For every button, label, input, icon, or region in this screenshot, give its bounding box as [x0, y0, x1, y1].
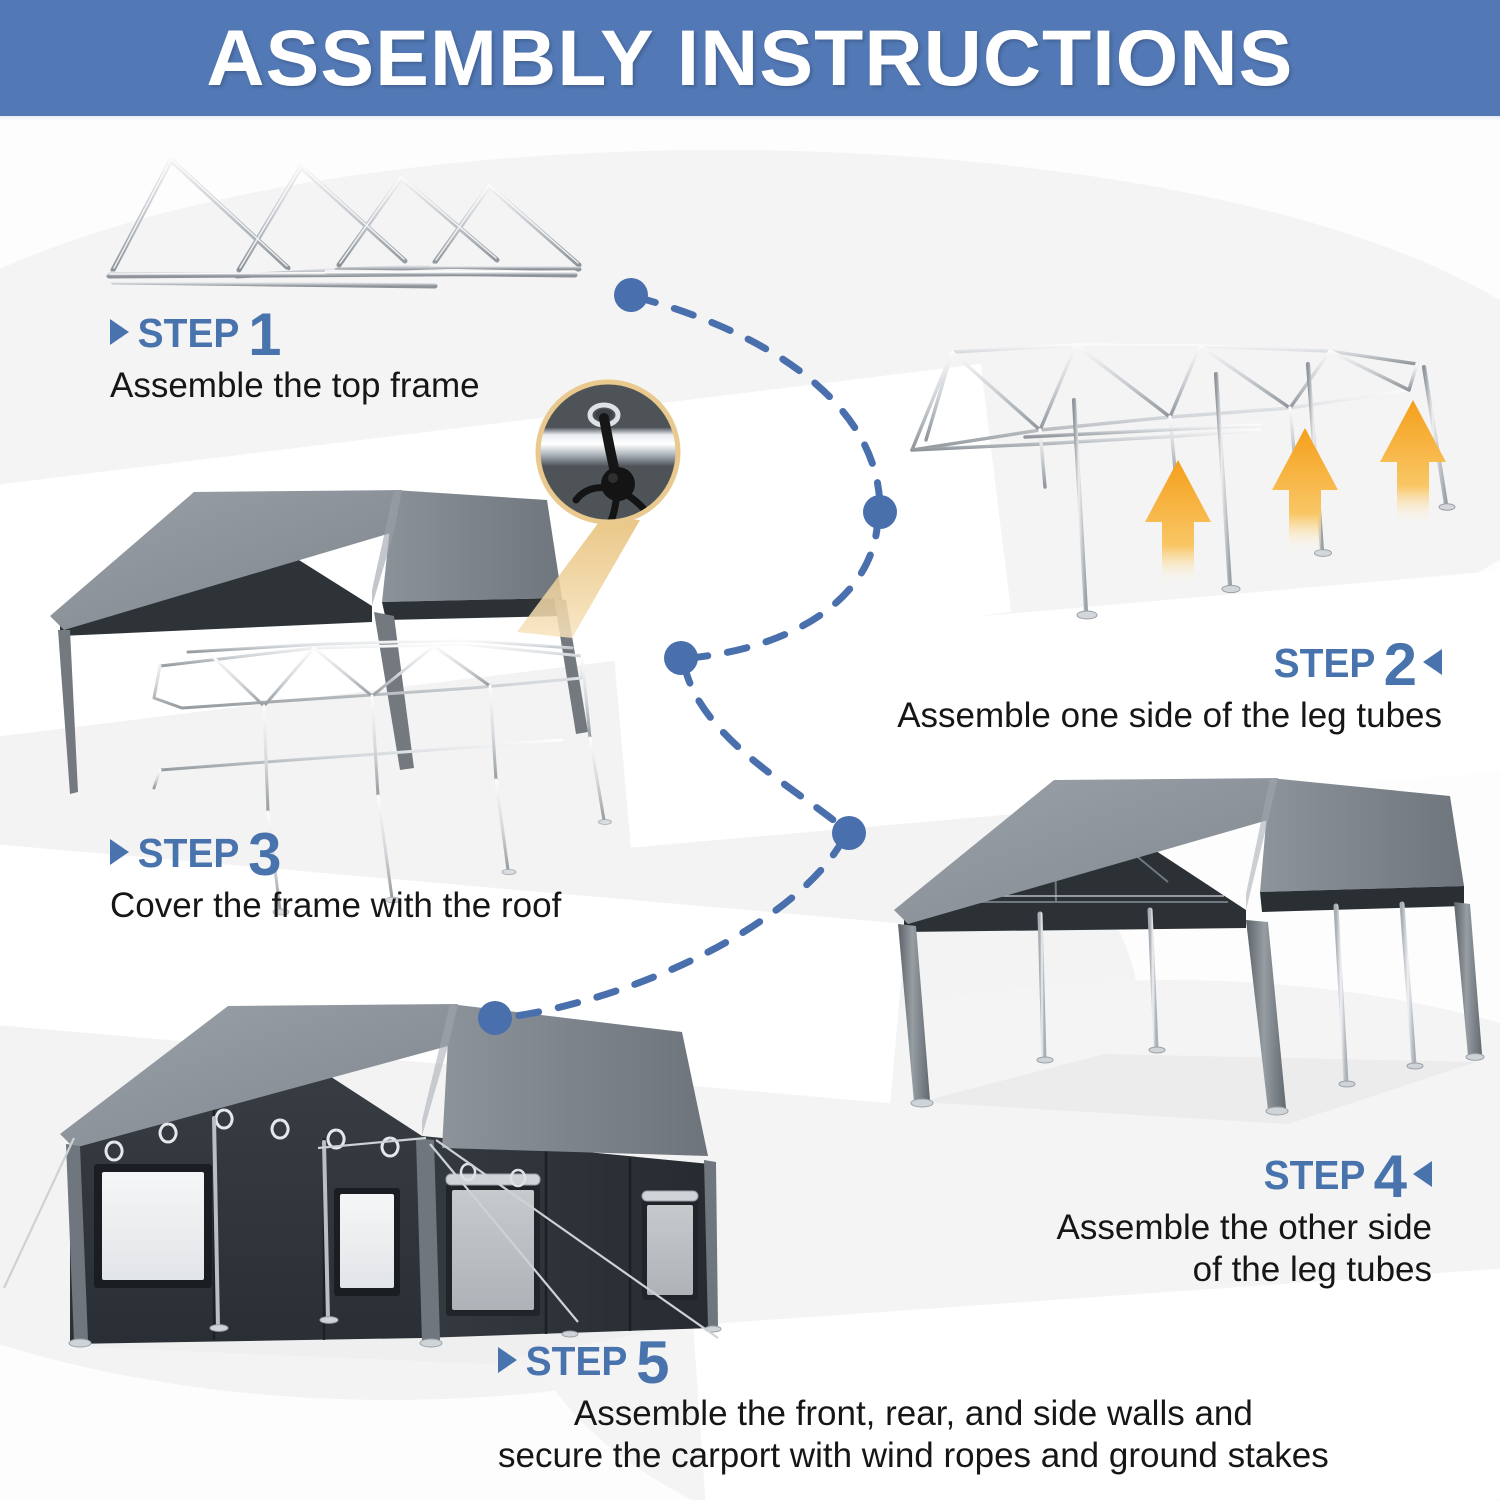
step-2-heading: STEP 2 — [897, 636, 1442, 684]
step-5-heading: STEP 5 — [498, 1334, 1329, 1382]
step-2-illustration — [890, 312, 1490, 662]
step-5-illustration — [18, 988, 758, 1378]
step-3-block: STEP 3 Cover the frame with the roof — [110, 826, 561, 926]
step-4-description-line-2: of the leg tubes — [1057, 1249, 1432, 1290]
step-4-number: 4 — [1374, 1153, 1407, 1201]
step-1-number: 1 — [248, 311, 281, 359]
step-3-number: 3 — [248, 831, 281, 879]
zoom-callout-bungee-fastener — [512, 368, 722, 638]
header-underline — [0, 116, 1500, 122]
step-5-block: STEP 5 Assemble the front, rear, and sid… — [498, 1334, 1329, 1477]
step-1-illustration — [105, 148, 675, 308]
step-4-description-line-1: Assemble the other side — [1057, 1207, 1432, 1248]
step-4-illustration — [868, 762, 1488, 1142]
step-5-description-line-2: secure the carport with wind ropes and g… — [498, 1435, 1329, 1476]
triangle-right-icon — [110, 839, 129, 865]
triangle-left-icon — [1423, 649, 1442, 675]
instruction-poster: ASSEMBLY INSTRUCTIONS STEP 1 Assemble th… — [0, 0, 1500, 1500]
step-5-number: 5 — [636, 1339, 669, 1387]
step-4-word: STEP — [1263, 1155, 1365, 1196]
header-bar: ASSEMBLY INSTRUCTIONS — [0, 0, 1500, 116]
step-5-description-line-1: Assemble the front, rear, and side walls… — [498, 1393, 1329, 1434]
page-title: ASSEMBLY INSTRUCTIONS — [206, 12, 1293, 104]
triangle-right-icon — [110, 319, 129, 345]
step-1-block: STEP 1 Assemble the top frame — [110, 306, 480, 406]
step-1-description: Assemble the top frame — [110, 365, 480, 406]
step-3-word: STEP — [138, 833, 240, 874]
step-2-block: STEP 2 Assemble one side of the leg tube… — [897, 636, 1442, 736]
step-1-word: STEP — [138, 313, 240, 354]
step-4-heading: STEP 4 — [1057, 1148, 1432, 1196]
triangle-left-icon — [1413, 1161, 1432, 1187]
triangle-right-icon — [498, 1347, 517, 1373]
step-3-heading: STEP 3 — [110, 826, 561, 874]
step-4-block: STEP 4 Assemble the other side of the le… — [1057, 1148, 1432, 1291]
step-2-description: Assemble one side of the leg tubes — [897, 695, 1442, 736]
step-5-word: STEP — [526, 1341, 628, 1382]
step-3-description: Cover the frame with the roof — [110, 885, 561, 926]
step-1-heading: STEP 1 — [110, 306, 480, 354]
step-2-number: 2 — [1384, 641, 1417, 689]
step-2-word: STEP — [1273, 643, 1375, 684]
